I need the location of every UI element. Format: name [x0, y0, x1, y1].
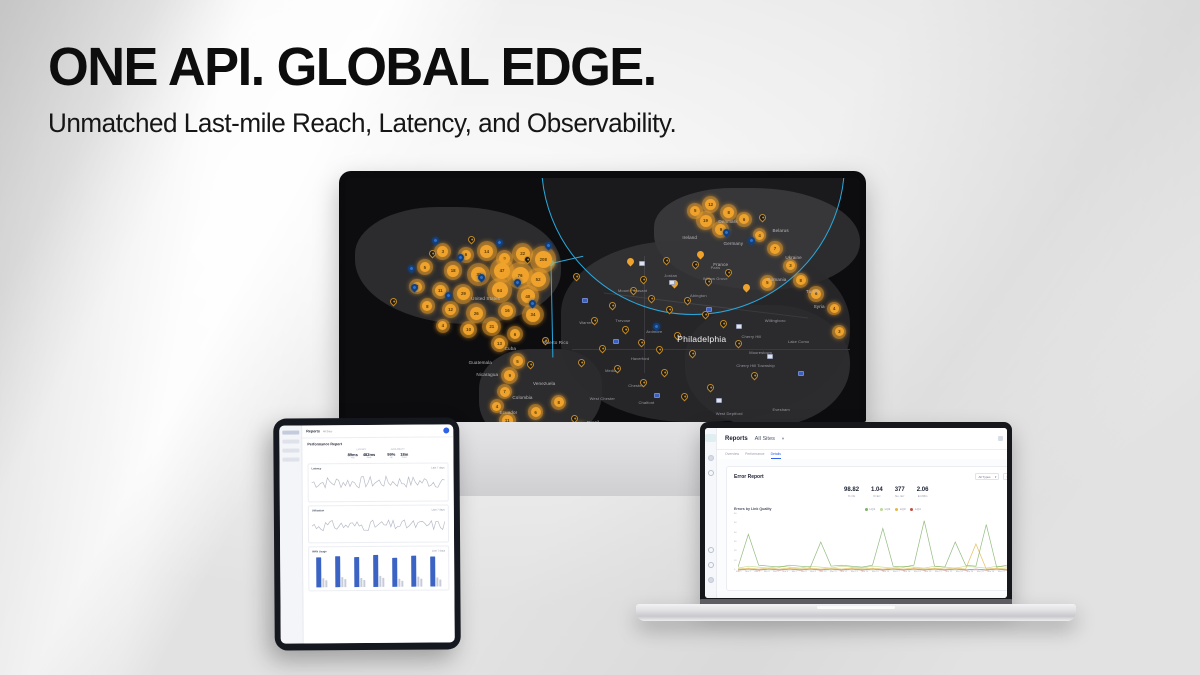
map-pin-blue[interactable]	[723, 229, 730, 239]
gear-icon[interactable]	[708, 577, 714, 583]
legend-item[interactable]: LQ1	[865, 507, 875, 511]
x-tick: Mar 25	[977, 571, 984, 573]
map-pin-blue[interactable]	[457, 254, 464, 264]
x-tick: Mar 10	[820, 571, 827, 573]
kpi-value: 98.82	[844, 487, 859, 493]
sidebar-item[interactable]	[282, 439, 299, 443]
report-card: Error Report All Types ▾ 30 d ▾	[726, 466, 1007, 591]
filter-type-select[interactable]: All Types ▾	[975, 473, 999, 480]
utilization-line-chart	[312, 512, 445, 540]
laptop-sidebar[interactable]	[705, 428, 717, 598]
kpi-metric: 89ms Avg	[348, 452, 358, 459]
map-pin-blue[interactable]	[545, 242, 552, 252]
legend-item[interactable]: LQ2	[880, 507, 890, 511]
desktop-monitor: 3614922208518314776527112964408122616344…	[339, 171, 866, 422]
card-title: Latency	[312, 467, 322, 470]
laptop-trackpad-notch	[817, 606, 895, 609]
chevron-down-icon: ▾	[995, 475, 997, 479]
map-pin-dark[interactable]	[684, 297, 691, 307]
report-title: Error Report	[734, 474, 764, 480]
card-note: Last 7 days	[431, 466, 444, 469]
tablet-chart-card[interactable]: Utilization Last 7 days	[308, 505, 449, 544]
bar-group	[430, 556, 441, 586]
y-tick: 40	[734, 532, 736, 534]
x-tick: Mar 14	[861, 571, 868, 573]
bar-down	[325, 580, 327, 587]
x-tick: Mar 15	[872, 571, 879, 573]
x-tick: Mar 19	[914, 571, 921, 573]
chevron-down-icon[interactable]: ▾	[782, 436, 784, 442]
map-cluster[interactable]: 14	[480, 245, 493, 258]
sidebar-icon-dashboard[interactable]	[708, 455, 714, 461]
x-tick: Mar 23	[956, 571, 963, 573]
map-pin-dark[interactable]	[720, 320, 727, 330]
kpi-group: LATENCY 89ms Avg 482ms Peak	[348, 449, 376, 459]
laptop-base	[636, 604, 1076, 621]
map-pin-dark[interactable]	[614, 365, 621, 375]
bar-total	[411, 556, 416, 587]
map-pin-dark[interactable]	[705, 278, 712, 288]
x-tick: Mar 3	[755, 571, 761, 573]
series-LQ1	[738, 521, 1007, 567]
chart-legend: LQ1LQ2LQ3LQ4	[865, 507, 921, 511]
map-pin-dark[interactable]	[542, 337, 549, 347]
map-pin-dark[interactable]	[609, 302, 616, 312]
map-pin-gold[interactable]	[697, 251, 704, 261]
tab-performance[interactable]: Performance	[745, 452, 764, 459]
monitor-bezel: 3614922208518314776527112964408122616344…	[339, 171, 866, 422]
map-cluster[interactable]: 5	[420, 262, 430, 272]
page-subtitle: Unmatched Last-mile Reach, Latency, and …	[48, 108, 676, 139]
map-pin-dark[interactable]	[759, 214, 766, 224]
tablet-nav-title[interactable]: Reports	[306, 429, 320, 433]
x-tick: Mar 6	[782, 571, 788, 573]
map-highway-shield	[736, 324, 742, 329]
map-pin-dark[interactable]	[751, 372, 758, 382]
kpi-value: 377	[895, 487, 905, 493]
map-cluster[interactable]: 208	[535, 251, 552, 268]
map-pin-dark[interactable]	[468, 236, 475, 246]
kpi-group: AVAILABILITY 99% Up 18m Down	[387, 449, 408, 459]
map-pin-blue[interactable]	[445, 292, 452, 302]
map-pin-dark[interactable]	[573, 273, 580, 283]
x-tick: Mar 27	[998, 571, 1005, 573]
bar-down	[344, 579, 346, 587]
map-pin-gold[interactable]	[743, 284, 750, 294]
chart-y-axis: 6050403020100	[734, 513, 736, 571]
page-title: ONE API. GLOBAL EDGE.	[48, 40, 667, 94]
map-pin-dark[interactable]	[692, 261, 699, 271]
bar-up	[417, 576, 419, 586]
kpi-metric: 377 No. Err	[895, 487, 905, 498]
x-tick: Mar 26	[987, 571, 994, 573]
x-tick: Mar 2	[745, 571, 751, 573]
bar-total	[354, 557, 359, 587]
bar-down	[382, 578, 384, 587]
laptop-body: Error Report All Types ▾ 30 d ▾	[717, 459, 1007, 598]
x-tick: Mar 7	[792, 571, 798, 573]
map-highway-shield	[706, 307, 712, 312]
laptop-keyboard	[700, 599, 1012, 604]
x-tick: Mar 8	[801, 571, 807, 573]
bar-total	[430, 556, 435, 586]
map-highway-shield	[582, 298, 588, 303]
x-tick: Mar 16	[882, 571, 889, 573]
map-pin-dark[interactable]	[571, 415, 578, 422]
map-pin-dark[interactable]	[429, 250, 436, 260]
map-pin-dark[interactable]	[666, 306, 673, 316]
map-cluster[interactable]: 8	[723, 207, 734, 218]
map-pin-dark[interactable]	[524, 256, 531, 266]
x-tick: Mar 24	[966, 571, 973, 573]
avatar[interactable]	[443, 427, 449, 433]
map-pin-dark[interactable]	[599, 345, 606, 355]
laptop-lid: Reports All Sites ▾ OverviewPerformanceD…	[700, 422, 1012, 605]
y-tick: 50	[734, 522, 736, 524]
map-pin-blue[interactable]	[432, 237, 439, 247]
map-highway-shield	[613, 339, 619, 344]
bar-down	[439, 579, 441, 586]
tab-overview[interactable]: Overview	[725, 452, 739, 459]
wan-usage-bar-chart	[312, 552, 445, 587]
nav-title[interactable]: Reports	[725, 436, 748, 442]
kpi-label: Avg	[348, 457, 358, 459]
map-pin-blue[interactable]	[529, 300, 536, 310]
map-pin-blue[interactable]	[653, 323, 660, 333]
x-tick: Mar 21	[935, 571, 942, 573]
tablet-sidebar[interactable]	[279, 425, 304, 643]
sidebar-item[interactable]	[282, 448, 299, 452]
map-highway-shield	[716, 398, 722, 403]
sidebar-icon-reports[interactable]	[708, 562, 714, 568]
chart-title: Errors by Link Quality	[734, 507, 772, 511]
filter-label: 30 d	[1006, 475, 1007, 479]
sidebar-icon-alerts[interactable]	[708, 547, 714, 553]
map-highway-shield	[767, 354, 773, 359]
bar-up	[436, 577, 438, 586]
bar-total	[392, 558, 397, 587]
header-actions	[998, 434, 1007, 443]
map-cluster[interactable]: 10	[463, 324, 474, 335]
map-pin-dark[interactable]	[663, 257, 670, 267]
map-cluster[interactable]: 26	[470, 307, 483, 320]
card-note: Last 7 days	[432, 509, 445, 512]
legend-item[interactable]: LQ4	[910, 507, 920, 511]
map-pin-dark[interactable]	[656, 346, 663, 356]
kpi-label: No. Err	[895, 494, 905, 498]
filter-label: All Types	[978, 475, 990, 479]
scope-selector[interactable]: All Sites	[755, 436, 775, 442]
kpi-metric: 1.04 % Err	[871, 487, 883, 498]
map-pin-blue[interactable]	[478, 274, 485, 284]
map-pin-dark[interactable]	[707, 384, 714, 394]
bar-total	[316, 557, 321, 587]
tablet-page-title: Performance Report	[307, 441, 448, 446]
map-highway-shield	[798, 371, 804, 376]
chart-header: Errors by Link Quality LQ1LQ2LQ3LQ4 Meas…	[734, 507, 1007, 511]
laptop-tabs[interactable]: OverviewPerformanceDetails	[717, 450, 1007, 459]
sidebar-item[interactable]	[282, 457, 299, 461]
bar-up	[398, 579, 400, 587]
map-pin-blue[interactable]	[748, 237, 755, 247]
bar-group	[373, 555, 384, 587]
kpi-label: % Err	[871, 494, 883, 498]
laptop-device: Reports All Sites ▾ OverviewPerformanceD…	[636, 422, 1076, 621]
map-pin-dark[interactable]	[735, 340, 742, 350]
x-tick: Mar 17	[893, 571, 900, 573]
map-pin-dark[interactable]	[390, 298, 397, 308]
bar-total	[373, 555, 378, 587]
x-tick: Mar 22	[945, 571, 952, 573]
app-logo	[705, 434, 716, 442]
kpi-metric: 2.06 Err/Min	[917, 487, 929, 498]
map-pin-dark[interactable]	[630, 287, 637, 297]
map-cluster[interactable]: 4	[830, 304, 839, 313]
laptop-screen: Reports All Sites ▾ OverviewPerformanceD…	[705, 428, 1007, 598]
tablet-header: Reports All Sites	[302, 424, 453, 438]
bar-up	[341, 577, 343, 587]
map-highway-shield	[669, 280, 675, 285]
bar-group	[392, 558, 403, 587]
map-cluster[interactable]: 52	[531, 272, 546, 287]
map-cluster[interactable]: 21	[486, 321, 498, 333]
tablet-kpi-row: LATENCY 89ms Avg 482ms Peak	[307, 448, 448, 459]
map-pin-dark[interactable]	[661, 369, 668, 379]
map-pin-dark[interactable]	[591, 317, 598, 327]
map-pin-dark[interactable]	[681, 393, 688, 403]
tablet-screen: Reports All Sites Performance Report LAT…	[279, 424, 455, 643]
map-cluster[interactable]: 7	[770, 244, 780, 254]
map-cluster[interactable]: 7	[500, 387, 510, 397]
map-pin-dark[interactable]	[725, 269, 732, 279]
map-pin-blue[interactable]	[411, 284, 418, 294]
map-pin-gold[interactable]	[627, 258, 634, 268]
x-tick: Mar 5	[773, 571, 779, 573]
map-cluster[interactable]: 5	[513, 356, 523, 366]
y-tick: 60	[734, 513, 736, 515]
kpi-metric: 99% Up	[387, 452, 395, 459]
latency-line-chart	[312, 469, 445, 498]
laptop-main: Reports All Sites ▾ OverviewPerformanceD…	[717, 428, 1007, 598]
kpi-value: 2.06	[917, 487, 929, 493]
map-pin-dark[interactable]	[578, 359, 585, 369]
bar-total	[335, 556, 340, 587]
kpi-label: Peak	[363, 457, 375, 459]
kpi-row: 98.82 % Ok1.04 % Err377 No. Err2.06 Err/…	[734, 487, 1007, 498]
map-pin-blue[interactable]	[408, 265, 415, 275]
kpi-value: 1.04	[871, 487, 883, 493]
card-note: Last 7 days	[432, 549, 445, 552]
x-tick: Mar 13	[851, 571, 858, 573]
road-line	[572, 349, 850, 350]
bar-group	[411, 555, 422, 586]
sidebar-icon-sites[interactable]	[708, 470, 714, 476]
kpi-label: Up	[387, 457, 395, 459]
map-cluster[interactable]: 6	[531, 407, 541, 417]
x-tick: Mar 18	[903, 571, 910, 573]
report-filters: All Types ▾ 30 d ▾	[975, 473, 1007, 480]
map-cluster[interactable]: 4	[755, 231, 764, 240]
map-cluster[interactable]: 64	[492, 282, 508, 298]
bar-down	[401, 581, 403, 587]
map-pin-dark[interactable]	[640, 276, 647, 286]
sidebar-item-active[interactable]	[282, 430, 299, 434]
kpi-group-caption: LATENCY	[348, 449, 376, 451]
map-pin-dark[interactable]	[702, 311, 709, 321]
map-cluster[interactable]: 18	[447, 265, 459, 277]
map-pin-dark[interactable]	[527, 361, 534, 371]
tablet-device: Reports All Sites Performance Report LAT…	[273, 417, 461, 650]
map-pin-dark[interactable]	[640, 379, 647, 389]
map-pin-blue[interactable]	[514, 279, 521, 289]
tablet-main: Reports All Sites Performance Report LAT…	[302, 424, 455, 643]
map-cluster[interactable]: 34	[526, 308, 540, 322]
tablet-scope[interactable]: All Sites	[323, 430, 332, 433]
tablet-chart-card[interactable]: Latency Last 7 days	[308, 462, 449, 502]
monitor-screen: 3614922208518314776527112964408122616344…	[345, 178, 860, 422]
map-cluster[interactable]: 11	[502, 415, 513, 422]
bar-up	[379, 576, 381, 587]
kpi-metric: 18m Down	[400, 452, 408, 459]
chart-x-axis: Mar 1Mar 2Mar 3Mar 4Mar 5Mar 6Mar 7Mar 8…	[734, 571, 1007, 573]
laptop-header: Reports All Sites ▾	[717, 428, 1007, 450]
card-title: WAN Usage	[312, 550, 327, 553]
report-card-header: Error Report All Types ▾ 30 d ▾	[734, 473, 1007, 480]
y-tick: 30	[734, 541, 736, 543]
map-highway-shield	[639, 261, 645, 266]
kpi-group-caption: AVAILABILITY	[387, 449, 408, 451]
x-tick: Mar 20	[924, 571, 931, 573]
bar-down	[420, 578, 422, 586]
bar-up	[360, 578, 362, 587]
map-pin-dark[interactable]	[689, 350, 696, 360]
card-title: Utilization	[312, 510, 324, 513]
y-tick: 20	[734, 550, 736, 552]
kpi-label: Down	[400, 457, 408, 459]
kpi-metric: 98.82 % Ok	[844, 487, 859, 498]
map-pin-blue[interactable]	[496, 239, 503, 249]
x-tick: Mar 11	[830, 571, 837, 573]
x-tick: Mar 1	[736, 571, 742, 573]
map-cluster[interactable]: 3	[437, 246, 448, 257]
bar-group	[354, 557, 365, 587]
tablet-bar-card[interactable]: WAN Usage Last 7 days	[308, 545, 449, 591]
bell-icon[interactable]	[998, 436, 1003, 441]
bar-down	[363, 580, 365, 587]
map-cluster[interactable]: 19	[700, 215, 712, 227]
map-pin-dark[interactable]	[638, 339, 645, 349]
map-highway-shield	[654, 393, 660, 398]
headline-block: ONE API. GLOBAL EDGE. Unmatched Last-mil…	[48, 40, 686, 139]
y-tick: 10	[734, 560, 736, 562]
legend-item[interactable]: LQ3	[895, 507, 905, 511]
map-pin-dark[interactable]	[648, 295, 655, 305]
errors-line-chart	[738, 513, 1007, 571]
bar-group	[316, 557, 327, 587]
filter-range-select[interactable]: 30 d ▾	[1003, 473, 1007, 480]
x-tick: Mar 4	[764, 571, 770, 573]
tab-details[interactable]: Details	[771, 452, 781, 459]
focus-city-label: Philadelphia	[677, 334, 726, 344]
kpi-metric: 482ms Peak	[363, 452, 376, 459]
x-tick: Mar 12	[840, 571, 847, 573]
bar-up	[322, 578, 324, 587]
x-tick: Mar 9	[810, 571, 816, 573]
kpi-label: Err/Min	[917, 494, 929, 498]
map-pin-dark[interactable]	[622, 326, 629, 336]
bar-group	[335, 556, 346, 587]
kpi-label: % Ok	[844, 494, 859, 498]
tablet-body: Performance Report LATENCY 89ms Avg 482m…	[302, 437, 454, 643]
world-map[interactable]: 3614922208518314776527112964408122616344…	[345, 178, 860, 422]
